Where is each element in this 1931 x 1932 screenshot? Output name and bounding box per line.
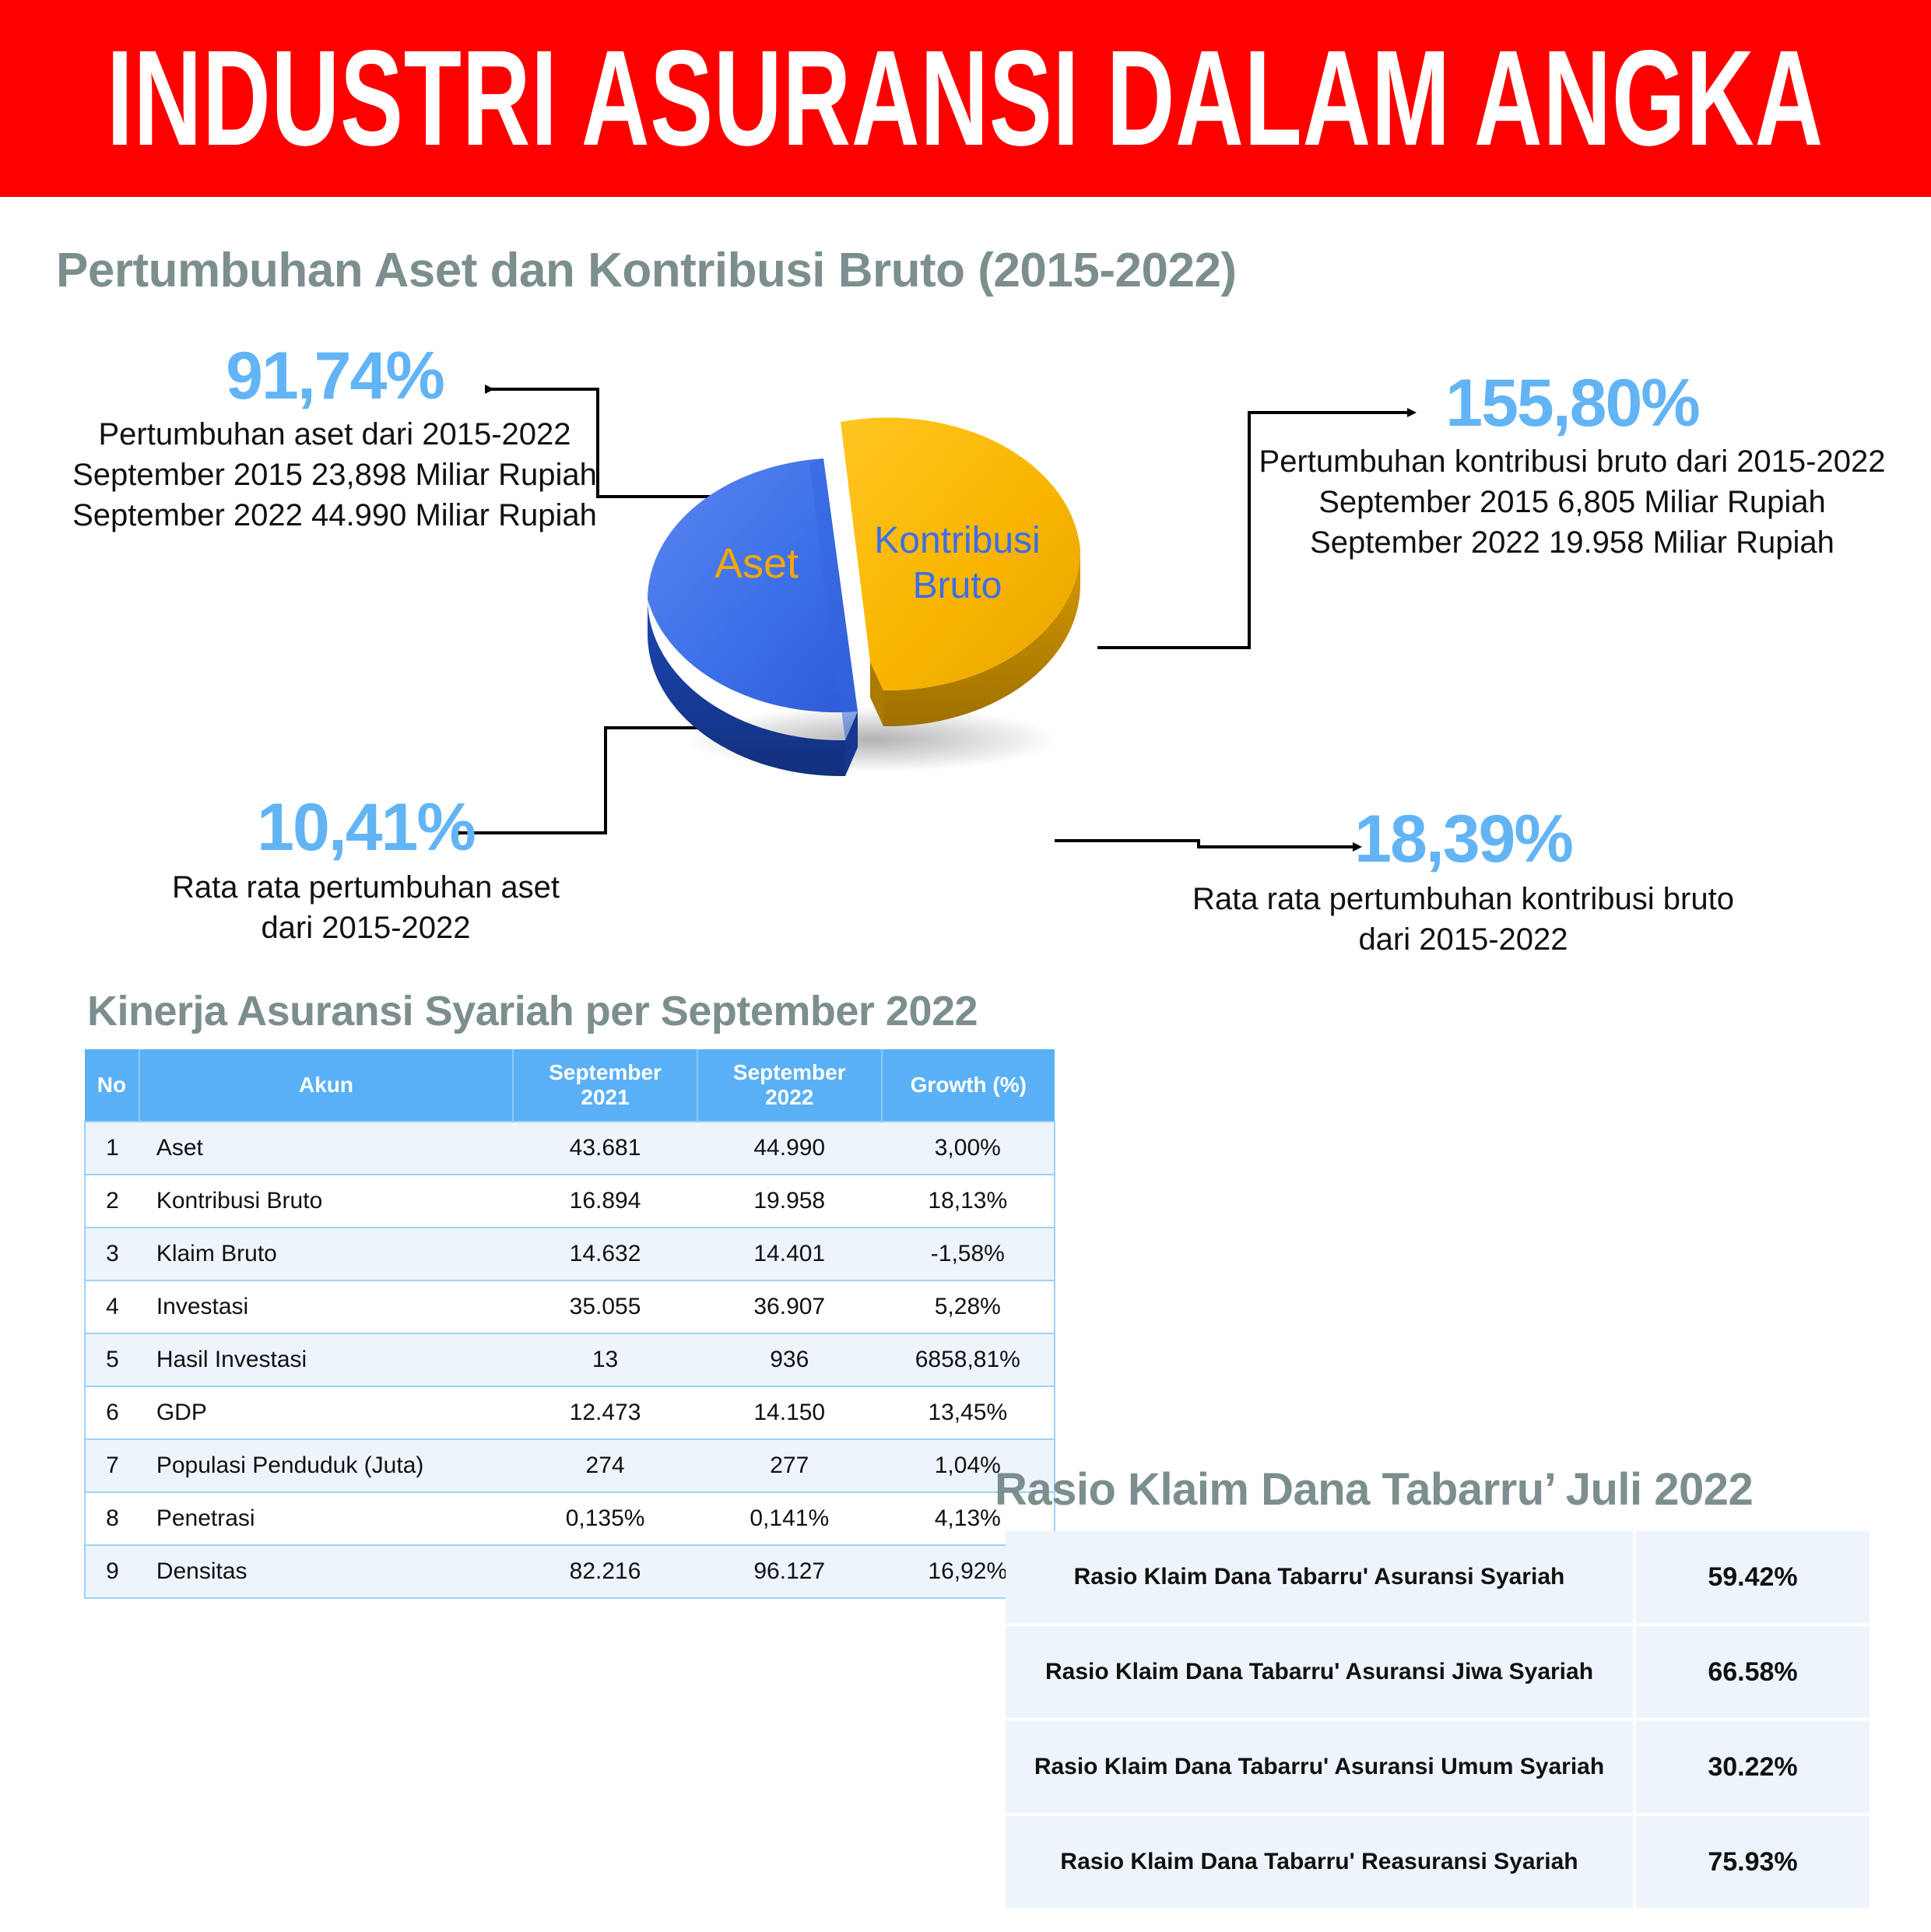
rasio-value: 66.58%	[1636, 1626, 1870, 1718]
cell-growth: 5,28%	[882, 1280, 1055, 1333]
page-title: INDUSTRI ASURANSI DALAM ANGKA	[107, 30, 1824, 167]
cell-september-2021: 16.894	[513, 1175, 697, 1228]
cell-no: 4	[85, 1280, 139, 1333]
callout-aset-growth: 91,74% Pertumbuhan aset dari 2015-2022 S…	[62, 342, 607, 536]
table-row: 4 Investasi 35.055 36.907 5,28%	[85, 1280, 1055, 1333]
cell-growth: 13,45%	[882, 1386, 1055, 1439]
cell-growth: 6858,81%	[882, 1333, 1055, 1386]
table-row: 1 Aset 43.681 44.990 3,00%	[85, 1122, 1055, 1175]
cell-september-2022: 36.907	[697, 1280, 882, 1333]
table-row: 6 GDP 12.473 14.150 13,45%	[85, 1386, 1055, 1439]
rasio-label: Rasio Klaim Dana Tabarru' Reasuransi Sya…	[1006, 1816, 1633, 1908]
cell-no: 3	[85, 1228, 139, 1280]
cell-september-2022: 96.127	[697, 1545, 882, 1598]
rasio-label: Rasio Klaim Dana Tabarru' Asuransi Jiwa …	[1006, 1626, 1633, 1718]
rasio-label: Rasio Klaim Dana Tabarru' Asuransi Umum …	[1006, 1721, 1633, 1813]
cell-akun: Hasil Investasi	[139, 1333, 513, 1386]
table-row: 2 Kontribusi Bruto 16.894 19.958 18,13%	[85, 1175, 1055, 1228]
table-row: 7 Populasi Penduduk (Juta) 274 277 1,04%	[85, 1439, 1055, 1492]
cell-september-2022: 19.958	[697, 1175, 882, 1228]
section-title-kinerja: Kinerja Asuransi Syariah per September 2…	[87, 987, 978, 1035]
cell-september-2022: 44.990	[697, 1122, 882, 1175]
cell-september-2021: 14.632	[513, 1228, 697, 1280]
callout-aset-average: 10,41% Rata rata pertumbuhan aset dari 2…	[117, 794, 615, 948]
table-header-row: No Akun September 2021 September 2022 Gr…	[85, 1049, 1055, 1122]
kontribusi-growth-percent: 155,80%	[1238, 370, 1907, 437]
cell-akun: Populasi Penduduk (Juta)	[139, 1439, 513, 1492]
section-title-rasio: Rasio Klaim Dana Tabarru’ Juli 2022	[995, 1463, 1753, 1516]
rasio-row: Rasio Klaim Dana Tabarru' Asuransi Syari…	[1006, 1531, 1870, 1623]
callout-kontribusi-average: 18,39% Rata rata pertumbuhan kontribusi …	[1121, 806, 1806, 960]
rasio-label: Rasio Klaim Dana Tabarru' Asuransi Syari…	[1006, 1531, 1633, 1623]
cell-september-2021: 0,135%	[513, 1492, 697, 1545]
aset-average-percent: 10,41%	[117, 794, 615, 861]
column-header-september-2021: September 2021	[513, 1049, 697, 1122]
kontribusi-growth-description: Pertumbuhan kontribusi bruto dari 2015-2…	[1238, 441, 1907, 563]
cell-growth: -1,58%	[882, 1228, 1055, 1280]
rasio-row: Rasio Klaim Dana Tabarru' Reasuransi Sya…	[1006, 1816, 1870, 1908]
kontribusi-average-percent: 18,39%	[1121, 806, 1806, 873]
column-header-no: No	[85, 1049, 139, 1122]
cell-akun: Investasi	[139, 1280, 513, 1333]
cell-no: 1	[85, 1122, 139, 1175]
rasio-value: 59.42%	[1636, 1531, 1870, 1623]
table-row: 5 Hasil Investasi 13 936 6858,81%	[85, 1333, 1055, 1386]
rasio-row: Rasio Klaim Dana Tabarru' Asuransi Jiwa …	[1006, 1626, 1870, 1718]
table-row: 9 Densitas 82.216 96.127 16,92%	[85, 1545, 1055, 1598]
section-title-growth: Pertumbuhan Aset dan Kontribusi Bruto (2…	[56, 243, 1237, 298]
kinerja-asuransi-table: No Akun September 2021 September 2022 Gr…	[84, 1049, 1055, 1599]
cell-akun: Penetrasi	[139, 1492, 513, 1545]
cell-september-2021: 35.055	[513, 1280, 697, 1333]
cell-no: 6	[85, 1386, 139, 1439]
cell-september-2022: 0,141%	[697, 1492, 882, 1545]
cell-growth: 18,13%	[882, 1175, 1055, 1228]
table-row: 3 Klaim Bruto 14.632 14.401 -1,58%	[85, 1228, 1055, 1280]
cell-september-2021: 82.216	[513, 1545, 697, 1598]
rasio-value: 30.22%	[1636, 1721, 1870, 1813]
cell-no: 5	[85, 1333, 139, 1386]
cell-september-2022: 14.401	[697, 1228, 882, 1280]
cell-no: 9	[85, 1545, 139, 1598]
rasio-klaim-table: Rasio Klaim Dana Tabarru' Asuransi Syari…	[1002, 1528, 1873, 1911]
rasio-row: Rasio Klaim Dana Tabarru' Asuransi Umum …	[1006, 1721, 1870, 1813]
cell-akun: Densitas	[139, 1545, 513, 1598]
pie-label-aset: Aset	[714, 540, 799, 587]
cell-september-2021: 12.473	[513, 1386, 697, 1439]
cell-akun: Aset	[139, 1122, 513, 1175]
column-header-growth: Growth (%)	[882, 1049, 1055, 1122]
pie-label-kontribusi-2: Bruto	[913, 565, 1002, 606]
cell-september-2021: 274	[513, 1439, 697, 1492]
column-header-akun: Akun	[139, 1049, 513, 1122]
cell-no: 8	[85, 1492, 139, 1545]
infographic-page: INDUSTRI ASURANSI DALAM ANGKA Pertumbuha…	[0, 0, 1931, 1932]
cell-september-2021: 13	[513, 1333, 697, 1386]
cell-growth: 3,00%	[882, 1122, 1055, 1175]
rasio-value: 75.93%	[1636, 1816, 1870, 1908]
cell-no: 2	[85, 1175, 139, 1228]
table-row: 8 Penetrasi 0,135% 0,141% 4,13%	[85, 1492, 1055, 1545]
pie-label-kontribusi-1: Kontribusi	[874, 520, 1040, 561]
callout-kontribusi-growth: 155,80% Pertumbuhan kontribusi bruto dar…	[1238, 370, 1907, 563]
cell-september-2021: 43.681	[513, 1122, 697, 1175]
cell-akun: Kontribusi Bruto	[139, 1175, 513, 1228]
cell-akun: Klaim Bruto	[139, 1228, 513, 1280]
header-banner: INDUSTRI ASURANSI DALAM ANGKA	[0, 0, 1931, 197]
cell-september-2022: 936	[697, 1333, 882, 1386]
aset-growth-percent: 91,74%	[62, 342, 607, 409]
pie-chart: Aset Kontribusi Bruto	[615, 405, 1129, 794]
kontribusi-average-description: Rata rata pertumbuhan kontribusi bruto d…	[1121, 879, 1806, 960]
cell-september-2022: 14.150	[697, 1386, 882, 1439]
column-header-september-2022: September 2022	[697, 1049, 882, 1122]
cell-no: 7	[85, 1439, 139, 1492]
aset-growth-description: Pertumbuhan aset dari 2015-2022 Septembe…	[62, 414, 607, 536]
cell-september-2022: 277	[697, 1439, 882, 1492]
cell-akun: GDP	[139, 1386, 513, 1439]
aset-average-description: Rata rata pertumbuhan aset dari 2015-202…	[117, 867, 615, 948]
